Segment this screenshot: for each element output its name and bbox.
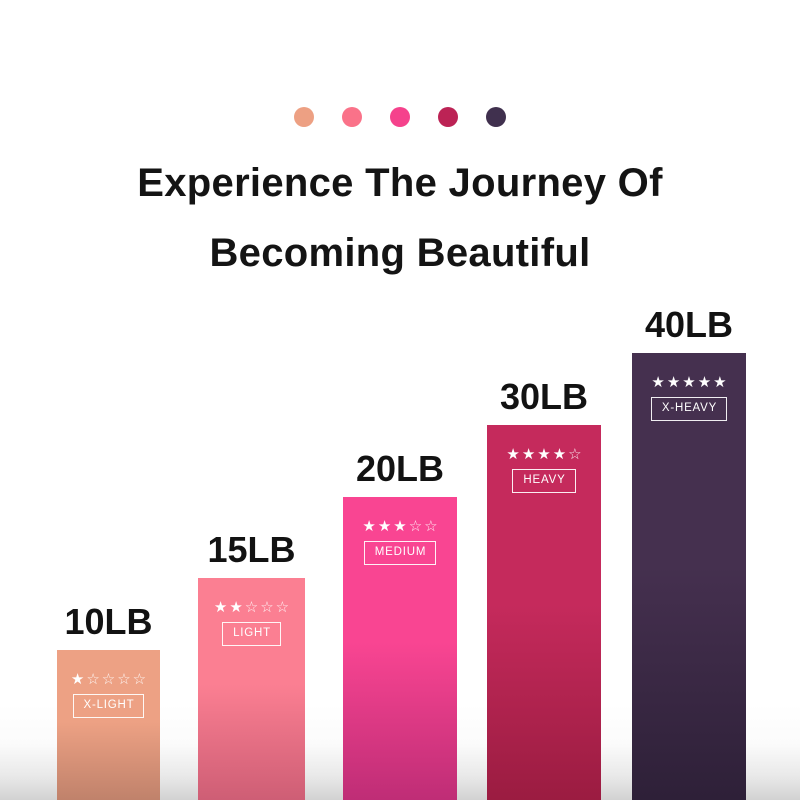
- bar-10lb[interactable]: ★☆☆☆☆X-LIGHT: [57, 650, 160, 800]
- bar-15lb-weight-label: 15LB: [168, 532, 335, 568]
- star-filled-icon: ★: [651, 375, 664, 390]
- bar-40lb[interactable]: ★★★★★X-HEAVY: [632, 353, 746, 800]
- star-empty-icon: ☆: [86, 672, 99, 687]
- star-filled-icon: ★: [522, 447, 535, 462]
- star-empty-icon: ☆: [133, 672, 146, 687]
- bar-20lb-weight-label: 20LB: [313, 451, 487, 487]
- bar-20lb-star-rating: ★★★☆☆: [362, 519, 437, 534]
- bar-10lb-star-rating: ★☆☆☆☆: [71, 672, 146, 687]
- star-filled-icon: ★: [393, 519, 406, 534]
- bar-15lb-group[interactable]: 15LB★★☆☆☆LIGHT: [198, 578, 305, 800]
- star-empty-icon: ☆: [245, 600, 258, 615]
- bar-40lb-weight-label: 40LB: [602, 307, 776, 343]
- bar-20lb-level-badge: MEDIUM: [364, 541, 436, 565]
- bar-40lb-group[interactable]: 40LB★★★★★X-HEAVY: [632, 353, 746, 800]
- star-filled-icon: ★: [537, 447, 550, 462]
- star-empty-icon: ☆: [409, 519, 422, 534]
- star-filled-icon: ★: [214, 600, 227, 615]
- star-filled-icon: ★: [698, 375, 711, 390]
- star-filled-icon: ★: [229, 600, 242, 615]
- star-empty-icon: ☆: [260, 600, 273, 615]
- star-empty-icon: ☆: [117, 672, 130, 687]
- bar-15lb-level-badge: LIGHT: [222, 622, 281, 646]
- bar-20lb-group[interactable]: 20LB★★★☆☆MEDIUM: [343, 497, 457, 800]
- bar-30lb[interactable]: ★★★★☆HEAVY: [487, 425, 601, 800]
- bar-10lb-group[interactable]: 10LB★☆☆☆☆X-LIGHT: [57, 650, 160, 800]
- star-empty-icon: ☆: [102, 672, 115, 687]
- star-filled-icon: ★: [71, 672, 84, 687]
- star-filled-icon: ★: [713, 375, 726, 390]
- promo-banner: Experience The Journey Of Becoming Beaut…: [0, 0, 800, 800]
- resistance-level-bar-chart: 10LB★☆☆☆☆X-LIGHT15LB★★☆☆☆LIGHT20LB★★★☆☆M…: [0, 0, 800, 800]
- bar-40lb-star-rating: ★★★★★: [651, 375, 726, 390]
- bar-10lb-weight-label: 10LB: [27, 604, 190, 640]
- star-filled-icon: ★: [682, 375, 695, 390]
- bar-15lb[interactable]: ★★☆☆☆LIGHT: [198, 578, 305, 800]
- star-filled-icon: ★: [506, 447, 519, 462]
- star-empty-icon: ☆: [568, 447, 581, 462]
- star-filled-icon: ★: [362, 519, 375, 534]
- bar-40lb-level-badge: X-HEAVY: [651, 397, 727, 421]
- star-filled-icon: ★: [378, 519, 391, 534]
- bar-15lb-star-rating: ★★☆☆☆: [214, 600, 289, 615]
- bar-20lb[interactable]: ★★★☆☆MEDIUM: [343, 497, 457, 800]
- bar-30lb-group[interactable]: 30LB★★★★☆HEAVY: [487, 425, 601, 800]
- star-empty-icon: ☆: [424, 519, 437, 534]
- bar-30lb-level-badge: HEAVY: [512, 469, 575, 493]
- bar-30lb-star-rating: ★★★★☆: [506, 447, 581, 462]
- star-empty-icon: ☆: [276, 600, 289, 615]
- star-filled-icon: ★: [553, 447, 566, 462]
- bar-30lb-weight-label: 30LB: [457, 379, 631, 415]
- star-filled-icon: ★: [667, 375, 680, 390]
- bar-10lb-level-badge: X-LIGHT: [73, 694, 145, 718]
